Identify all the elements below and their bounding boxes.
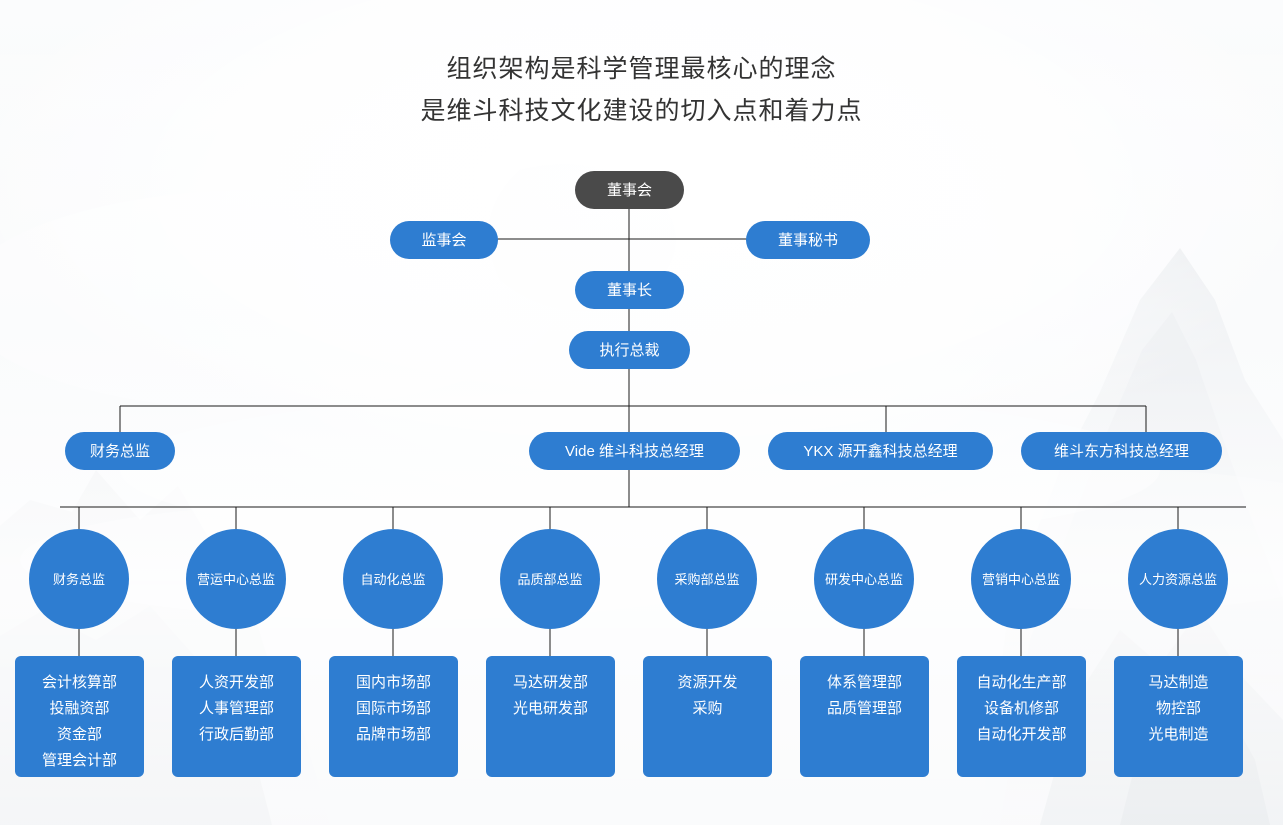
dept-line-0-1: 投融资部 — [49, 696, 109, 722]
dept-line-3-1: 光电研发部 — [513, 696, 588, 722]
node-director-5-label: 研发中心总监 — [825, 573, 903, 586]
node-board-label: 董事会 — [607, 183, 652, 198]
node-director-6-label: 营销中心总监 — [982, 573, 1060, 586]
dept-line-6-0: 自动化生产部 — [976, 670, 1066, 696]
node-board[interactable]: 董事会 — [575, 171, 684, 209]
node-director-0-label: 财务总监 — [53, 573, 105, 586]
node-chairman[interactable]: 董事长 — [575, 271, 684, 309]
node-director-4-label: 采购部总监 — [674, 573, 739, 586]
dept-box-4[interactable]: 资源开发采购 — [643, 656, 772, 777]
node-manager-0[interactable]: 财务总监 — [65, 432, 175, 470]
node-director-5[interactable]: 研发中心总监 — [814, 529, 914, 629]
node-supervisory-board[interactable]: 监事会 — [390, 221, 498, 259]
node-director-4[interactable]: 采购部总监 — [657, 529, 757, 629]
title-line-2: 是维斗科技文化建设的切入点和着力点 — [0, 90, 1283, 132]
node-manager-3[interactable]: 维斗东方科技总经理 — [1021, 432, 1222, 470]
node-director-2-label: 自动化总监 — [360, 573, 425, 586]
dept-line-7-0: 马达制造 — [1148, 670, 1208, 696]
dept-line-0-2: 资金部 — [57, 722, 102, 748]
dept-line-0-3: 管理会计部 — [42, 748, 117, 774]
dept-line-5-0: 体系管理部 — [827, 670, 902, 696]
dept-line-6-1: 设备机修部 — [984, 696, 1059, 722]
dept-line-0-0: 会计核算部 — [42, 670, 117, 696]
node-chairman-label: 董事长 — [607, 283, 652, 298]
dept-line-1-0: 人资开发部 — [199, 670, 274, 696]
dept-box-5[interactable]: 体系管理部品质管理部 — [800, 656, 929, 777]
dept-line-2-0: 国内市场部 — [356, 670, 431, 696]
dept-line-2-1: 国际市场部 — [356, 696, 431, 722]
node-director-2[interactable]: 自动化总监 — [343, 529, 443, 629]
node-director-1-label: 营运中心总监 — [197, 573, 275, 586]
dept-box-7[interactable]: 马达制造物控部光电制造 — [1114, 656, 1243, 777]
node-manager-2-label: YKX 源开鑫科技总经理 — [803, 444, 957, 459]
node-director-3[interactable]: 品质部总监 — [500, 529, 600, 629]
node-ceo-label: 执行总裁 — [599, 343, 659, 358]
node-board-secretary[interactable]: 董事秘书 — [746, 221, 870, 259]
node-director-7-label: 人力资源总监 — [1139, 573, 1217, 586]
dept-box-6[interactable]: 自动化生产部设备机修部自动化开发部 — [957, 656, 1086, 777]
title-line-1: 组织架构是科学管理最核心的理念 — [0, 48, 1283, 90]
node-ceo[interactable]: 执行总裁 — [569, 331, 690, 369]
dept-line-1-2: 行政后勤部 — [199, 722, 274, 748]
node-board-secretary-label: 董事秘书 — [778, 233, 838, 248]
dept-line-7-2: 光电制造 — [1148, 722, 1208, 748]
node-director-7[interactable]: 人力资源总监 — [1128, 529, 1228, 629]
dept-line-7-1: 物控部 — [1156, 696, 1201, 722]
dept-line-6-2: 自动化开发部 — [976, 722, 1066, 748]
node-manager-0-label: 财务总监 — [90, 444, 150, 459]
node-director-6[interactable]: 营销中心总监 — [971, 529, 1071, 629]
node-manager-2[interactable]: YKX 源开鑫科技总经理 — [768, 432, 993, 470]
chart-title: 组织架构是科学管理最核心的理念 是维斗科技文化建设的切入点和着力点 — [0, 48, 1283, 132]
dept-line-1-1: 人事管理部 — [199, 696, 274, 722]
dept-box-2[interactable]: 国内市场部国际市场部品牌市场部 — [329, 656, 458, 777]
node-manager-1-label: Vide 维斗科技总经理 — [565, 444, 704, 459]
node-supervisory-board-label: 监事会 — [421, 233, 466, 248]
node-manager-3-label: 维斗东方科技总经理 — [1054, 444, 1189, 459]
dept-line-3-0: 马达研发部 — [513, 670, 588, 696]
node-director-1[interactable]: 营运中心总监 — [186, 529, 286, 629]
dept-line-2-2: 品牌市场部 — [356, 722, 431, 748]
dept-box-0[interactable]: 会计核算部投融资部资金部管理会计部 — [15, 656, 144, 777]
dept-box-1[interactable]: 人资开发部人事管理部行政后勤部 — [172, 656, 301, 777]
dept-line-4-1: 采购 — [692, 696, 722, 722]
node-director-0[interactable]: 财务总监 — [29, 529, 129, 629]
node-manager-1[interactable]: Vide 维斗科技总经理 — [529, 432, 740, 470]
dept-line-5-1: 品质管理部 — [827, 696, 902, 722]
node-director-3-label: 品质部总监 — [517, 573, 582, 586]
dept-line-4-0: 资源开发 — [677, 670, 737, 696]
dept-box-3[interactable]: 马达研发部光电研发部 — [486, 656, 615, 777]
